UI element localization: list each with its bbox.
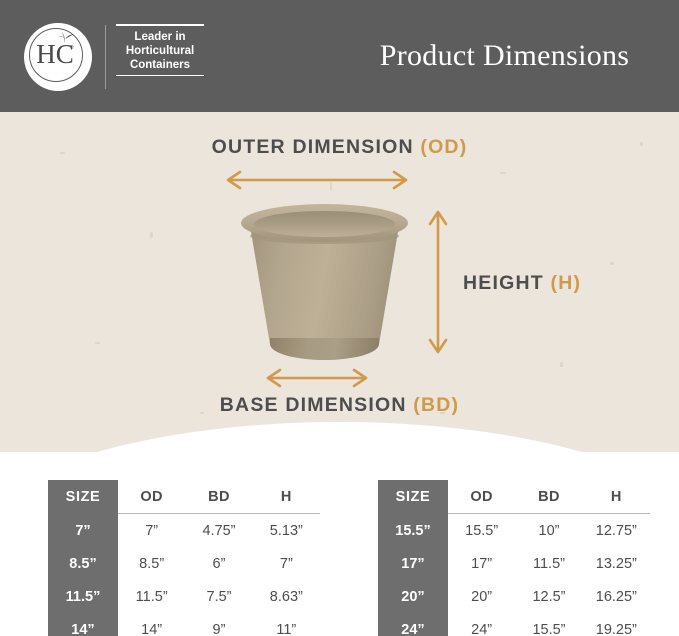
- cell-h: 19.25”: [583, 613, 650, 636]
- height-label: HEIGHT (H): [463, 272, 581, 295]
- height-abbr: (H): [551, 272, 582, 294]
- table-row: 17” 17” 11.5” 13.25”: [378, 547, 650, 580]
- tagline-line-3: Containers: [116, 58, 204, 72]
- height-arrow-icon: [428, 206, 448, 358]
- col-header-size: SIZE: [48, 480, 118, 513]
- cell-od: 20”: [448, 580, 515, 613]
- table-large: SIZE OD BD H 15.5” 15.5” 10”: [378, 480, 650, 636]
- page-title: Product Dimensions: [330, 0, 679, 112]
- cell-h: 7”: [253, 547, 320, 580]
- cell-od: 24”: [448, 613, 515, 636]
- cell-bd: 6”: [185, 547, 252, 580]
- table-row: 7” 7” 4.75” 5.13”: [48, 514, 320, 547]
- col-header-od: OD: [118, 480, 185, 513]
- cell-size: 24”: [378, 613, 448, 636]
- outer-dimension-arrow-icon: [222, 170, 412, 190]
- tagline-line-2: Horticultural: [116, 44, 204, 58]
- col-header-size: SIZE: [378, 480, 448, 513]
- cell-h: 5.13”: [253, 514, 320, 547]
- cell-bd: 4.75”: [185, 514, 252, 547]
- base-dimension-text: BASE DIMENSION: [220, 394, 414, 416]
- cell-od: 14”: [118, 613, 185, 636]
- col-header-h: H: [253, 480, 320, 513]
- tagline-text: Leader in Horticultural Containers: [116, 26, 204, 75]
- cell-size: 7”: [48, 514, 118, 547]
- cell-h: 8.63”: [253, 580, 320, 613]
- base-dimension-label: BASE DIMENSION (BD): [0, 394, 679, 417]
- cell-od: 8.5”: [118, 547, 185, 580]
- outer-dimension-text: OUTER DIMENSION: [212, 136, 421, 158]
- cell-size: 20”: [378, 580, 448, 613]
- cell-size: 15.5”: [378, 514, 448, 547]
- col-header-bd: BD: [515, 480, 582, 513]
- header-bar: HC ® Leader in Horticultural Containers …: [0, 0, 679, 112]
- tagline-line-1: Leader in: [116, 30, 204, 44]
- cell-size: 14”: [48, 613, 118, 636]
- table-row: 11.5” 11.5” 7.5” 8.63”: [48, 580, 320, 613]
- pot-base: [270, 338, 379, 360]
- cell-bd: 7.5”: [185, 580, 252, 613]
- cell-bd: 11.5”: [515, 547, 582, 580]
- table-row: 14” 14” 9” 11”: [48, 613, 320, 636]
- cell-size: 8.5”: [48, 547, 118, 580]
- cell-size: 17”: [378, 547, 448, 580]
- cell-h: 12.75”: [583, 514, 650, 547]
- table-row: 24” 24” 15.5” 19.25”: [378, 613, 650, 636]
- brand-tagline: Leader in Horticultural Containers: [116, 24, 208, 76]
- logo-trademark: ®: [70, 45, 74, 51]
- cell-od: 7”: [118, 514, 185, 547]
- cell-bd: 15.5”: [515, 613, 582, 636]
- cell-bd: 9”: [185, 613, 252, 636]
- tagline-rule-bottom: [116, 75, 204, 77]
- base-dimension-arrow-icon: [262, 368, 372, 388]
- col-header-od: OD: [448, 480, 515, 513]
- height-text: HEIGHT: [463, 272, 551, 294]
- base-dimension-abbr: (BD): [413, 394, 459, 416]
- dimension-table-large: SIZE OD BD H 15.5” 15.5” 10”: [378, 480, 650, 636]
- cell-h: 11”: [253, 613, 320, 636]
- cell-size: 11.5”: [48, 580, 118, 613]
- logo-monogram: HC: [21, 41, 89, 68]
- outer-dimension-label: OUTER DIMENSION (OD): [0, 136, 679, 159]
- dimension-table-small: SIZE OD BD H 7” 7” 4.75” 5.1: [48, 480, 320, 636]
- table-row: 15.5” 15.5” 10” 12.75”: [378, 514, 650, 547]
- table-row: 8.5” 8.5” 6” 7”: [48, 547, 320, 580]
- table-header-row: SIZE OD BD H: [48, 480, 320, 513]
- pot-rim-inner: [254, 211, 395, 237]
- brand-logo: HC ® Leader in Horticultural Containers: [21, 21, 191, 93]
- cell-h: 13.25”: [583, 547, 650, 580]
- col-header-bd: BD: [185, 480, 252, 513]
- col-header-h: H: [583, 480, 650, 513]
- cell-od: 15.5”: [448, 514, 515, 547]
- logo-divider: [105, 25, 106, 89]
- table-small: SIZE OD BD H 7” 7” 4.75” 5.1: [48, 480, 320, 636]
- cell-h: 16.25”: [583, 580, 650, 613]
- product-dimensions-infographic: HC ® Leader in Horticultural Containers …: [0, 0, 679, 636]
- cell-bd: 12.5”: [515, 580, 582, 613]
- cell-od: 11.5”: [118, 580, 185, 613]
- outer-dimension-abbr: (OD): [420, 136, 467, 158]
- cell-od: 17”: [448, 547, 515, 580]
- planter-pot-illustration: [232, 198, 417, 363]
- panel-bottom-curve: [0, 422, 679, 452]
- table-row: 20” 20” 12.5” 16.25”: [378, 580, 650, 613]
- cell-bd: 10”: [515, 514, 582, 547]
- table-header-row: SIZE OD BD H: [378, 480, 650, 513]
